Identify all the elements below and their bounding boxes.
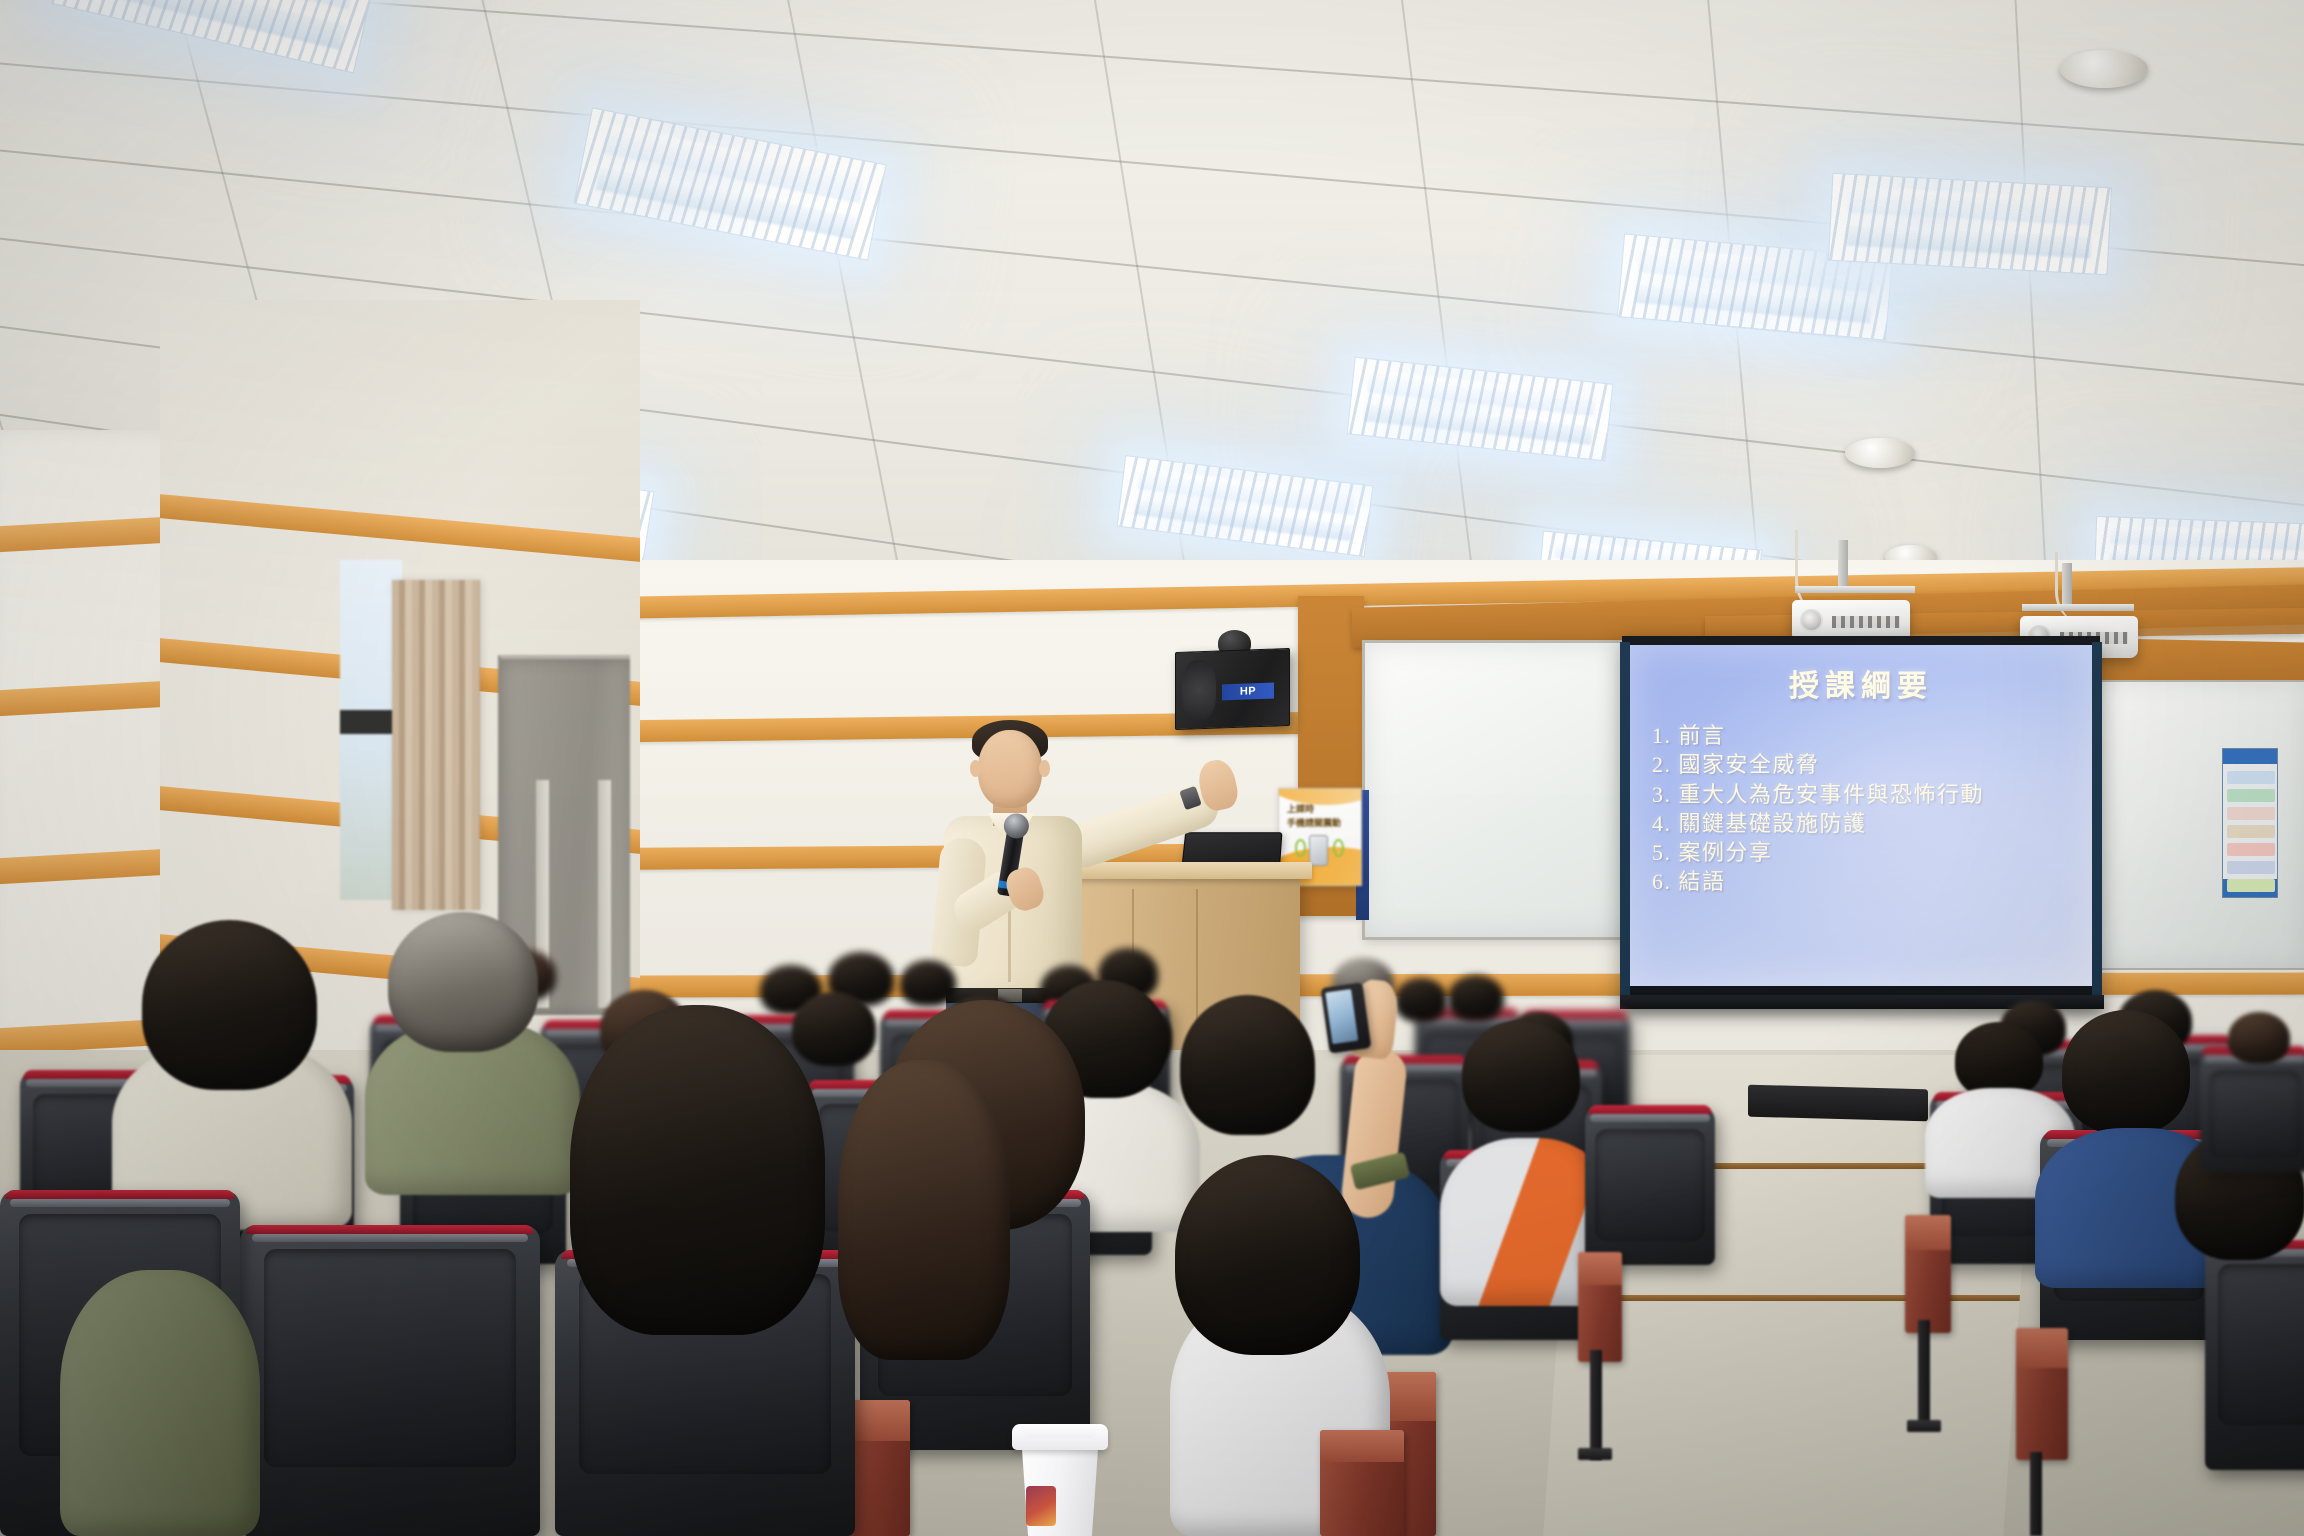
audience-head bbox=[1448, 975, 1504, 1021]
audience-head bbox=[900, 960, 956, 1006]
ceiling-light-fixture bbox=[1828, 173, 2112, 276]
foreground-audience-head bbox=[570, 1005, 825, 1335]
audience-shoulders bbox=[60, 1270, 260, 1536]
slide-list-item: 2. 國家安全威脅 bbox=[1652, 750, 2092, 779]
wall-poster bbox=[2222, 748, 2278, 898]
presenter-head bbox=[978, 730, 1042, 808]
chair-armrest[interactable] bbox=[1578, 1252, 1622, 1362]
window-curtain bbox=[392, 580, 480, 910]
slide-list-item: 1. 前言 bbox=[1652, 721, 2092, 750]
phone-screen bbox=[1325, 989, 1358, 1044]
stage-step-edge bbox=[1748, 1085, 1928, 1122]
audience-head bbox=[388, 912, 538, 1052]
chair-armrest[interactable] bbox=[1320, 1430, 1404, 1536]
audience-head bbox=[142, 920, 317, 1090]
smoke-detector-icon bbox=[1845, 438, 1915, 468]
audience-head bbox=[792, 992, 876, 1066]
slide-title: 授課綱要 bbox=[1630, 661, 2092, 705]
projection-screen: 授課綱要 1. 前言 2. 國家安全威脅 3. 重大人為危安事件與恐怖行動 4.… bbox=[1622, 636, 2100, 1002]
audience-head bbox=[1462, 1020, 1580, 1132]
projector-ports-icon bbox=[1832, 616, 1900, 628]
photographer-head bbox=[1180, 995, 1315, 1135]
slide-list-item: 4. 關鍵基礎設施防護 bbox=[1652, 809, 2092, 838]
chair[interactable] bbox=[240, 1225, 540, 1536]
audience-head bbox=[2062, 1010, 2190, 1134]
chair[interactable] bbox=[2200, 1046, 2304, 1172]
cup-lid bbox=[1012, 1424, 1108, 1450]
screen-bezel-right bbox=[2092, 642, 2102, 996]
sign-text-line1: 上課時 bbox=[1287, 803, 1355, 817]
slide-list-item: 6. 結語 bbox=[1652, 867, 2092, 896]
sign-text-line2: 手機請關震動 bbox=[1287, 817, 1355, 831]
coffee-cup[interactable] bbox=[1012, 1418, 1108, 1536]
slide-outline-list: 1. 前言 2. 國家安全威脅 3. 重大人為危安事件與恐怖行動 4. 關鍵基礎… bbox=[1652, 721, 2092, 897]
projector-lens-icon bbox=[1800, 609, 1823, 632]
projector-mount-arm bbox=[2062, 563, 2072, 605]
foreground-audience-head bbox=[838, 1060, 1010, 1360]
screen-bezel-left bbox=[1620, 642, 1630, 996]
presenter-right-arm bbox=[1058, 779, 1224, 873]
vibration-wave-icon bbox=[1295, 839, 1306, 857]
projector-mount-plate bbox=[1795, 586, 1915, 593]
projector-mount-plate bbox=[2022, 604, 2134, 611]
audience-head bbox=[1395, 978, 1447, 1022]
chair-armrest[interactable] bbox=[1905, 1215, 1951, 1333]
audience-head bbox=[2228, 1012, 2290, 1064]
vibration-wave-icon bbox=[1333, 839, 1344, 857]
wall-wood-stripe bbox=[160, 494, 640, 562]
speaker-brand-label: HP bbox=[1222, 683, 1274, 701]
slide-list-item: 3. 重大人為危安事件與恐怖行動 bbox=[1652, 780, 2092, 809]
audience-head bbox=[1175, 1155, 1360, 1355]
slide-list-item: 5. 案例分享 bbox=[1652, 838, 2092, 867]
projector-mount-arm bbox=[1838, 540, 1848, 588]
chair[interactable] bbox=[1585, 1105, 1715, 1265]
chair[interactable] bbox=[2205, 1240, 2304, 1470]
cup-logo bbox=[1026, 1486, 1056, 1526]
audience-head bbox=[1955, 1022, 2043, 1098]
lecture-hall-photo: HP 授課綱要 1. 前言 2. 國家安全威脅 3. 重大 bbox=[0, 0, 2304, 1536]
chair-armrest[interactable] bbox=[2016, 1328, 2068, 1460]
phone-icon bbox=[1309, 835, 1328, 866]
smartphone[interactable] bbox=[1321, 982, 1372, 1053]
smoke-detector-icon bbox=[2060, 50, 2148, 88]
sign-text: 上課時 手機請關震動 bbox=[1287, 803, 1355, 830]
presentation-slide: 授課綱要 1. 前言 2. 國家安全威脅 3. 重大人為危安事件與恐怖行動 4.… bbox=[1630, 645, 2092, 986]
